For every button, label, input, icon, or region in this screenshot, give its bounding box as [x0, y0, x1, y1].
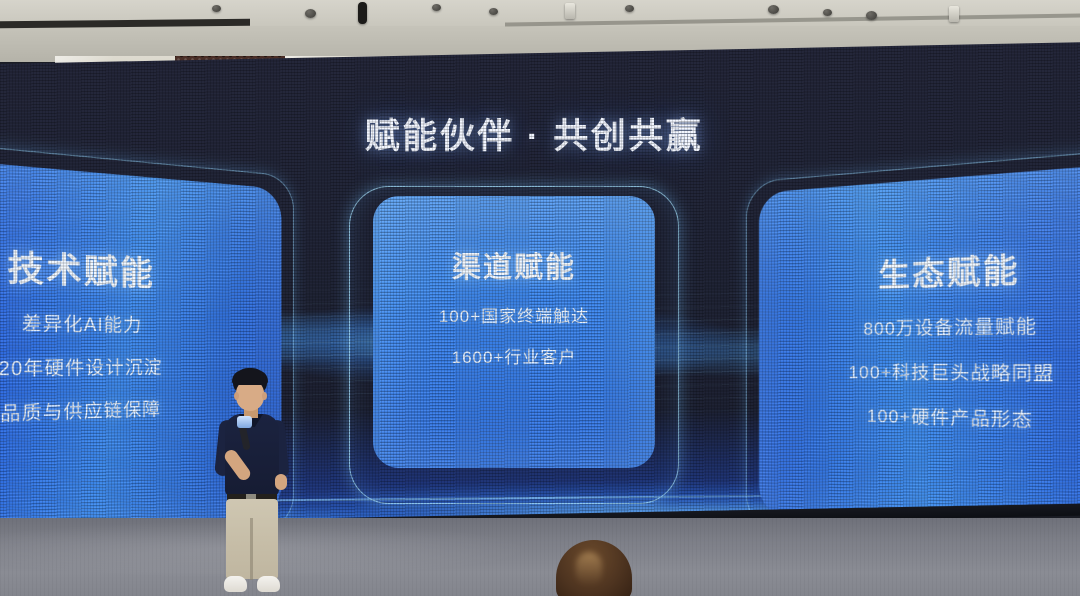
ceiling-light-icon — [212, 5, 221, 12]
presenter-hair-front — [232, 370, 268, 385]
card-heading: 生态赋能 — [878, 242, 1019, 296]
stage-scene: 赋能伙伴 · 共创共赢 技术赋能 差异化AI能力 20年硬件设计沉淀 品质与供应… — [0, 0, 1080, 596]
microphone-flag — [237, 416, 252, 428]
card-heading: 技术赋能 — [7, 239, 154, 295]
ceiling-light-icon — [823, 9, 832, 16]
presenter-pants-seam — [250, 518, 253, 580]
card-channel-enablement[interactable]: 渠道赋能 100+国家终端触达 1600+行业客户 — [349, 186, 679, 504]
card-item: 1600+行业客户 — [452, 343, 577, 368]
presenter-ear — [262, 392, 267, 400]
card-heading: 渠道赋能 — [452, 244, 576, 286]
slide-title: 赋能伙伴 · 共创共赢 — [0, 108, 1074, 159]
ceiling-light-icon — [866, 11, 877, 20]
card-ecosystem-enablement[interactable]: 生态赋能 800万设备流量赋能 100+科技巨头战略同盟 100+硬件产品形态 — [746, 144, 1080, 529]
ceiling-light-icon — [305, 9, 316, 18]
ceiling-light-icon — [625, 5, 634, 12]
presenter-hand-right — [275, 474, 287, 490]
ceiling-speaker-icon — [358, 2, 367, 24]
card-item: 800万设备流量赋能 — [863, 310, 1037, 340]
card-item: 100+国家终端触达 — [439, 302, 589, 327]
card-item: 差异化AI能力 — [22, 307, 143, 337]
ceiling-light-icon — [432, 4, 441, 11]
presenter-ear — [234, 392, 239, 400]
led-screen: 赋能伙伴 · 共创共赢 技术赋能 差异化AI能力 20年硬件设计沉淀 品质与供应… — [0, 42, 1080, 529]
ceiling-projector-icon — [565, 3, 575, 19]
ceiling-light-icon — [489, 8, 498, 15]
card-item: 100+科技巨头战略同盟 — [849, 357, 1055, 386]
ceiling-projector-icon — [949, 6, 959, 22]
card-item: 20年硬件设计沉淀 — [0, 352, 163, 381]
ceiling-light-icon — [768, 5, 779, 14]
presenter-figure — [205, 368, 300, 596]
presenter-shoe — [257, 576, 280, 592]
card-item: 品质与供应链保障 — [0, 394, 161, 426]
ceiling-rail-left — [0, 19, 250, 29]
stage-floor — [0, 518, 1080, 596]
audience-hair-highlight — [576, 552, 602, 586]
presenter-shoe — [224, 576, 247, 592]
card-item: 100+硬件产品形态 — [867, 401, 1033, 433]
